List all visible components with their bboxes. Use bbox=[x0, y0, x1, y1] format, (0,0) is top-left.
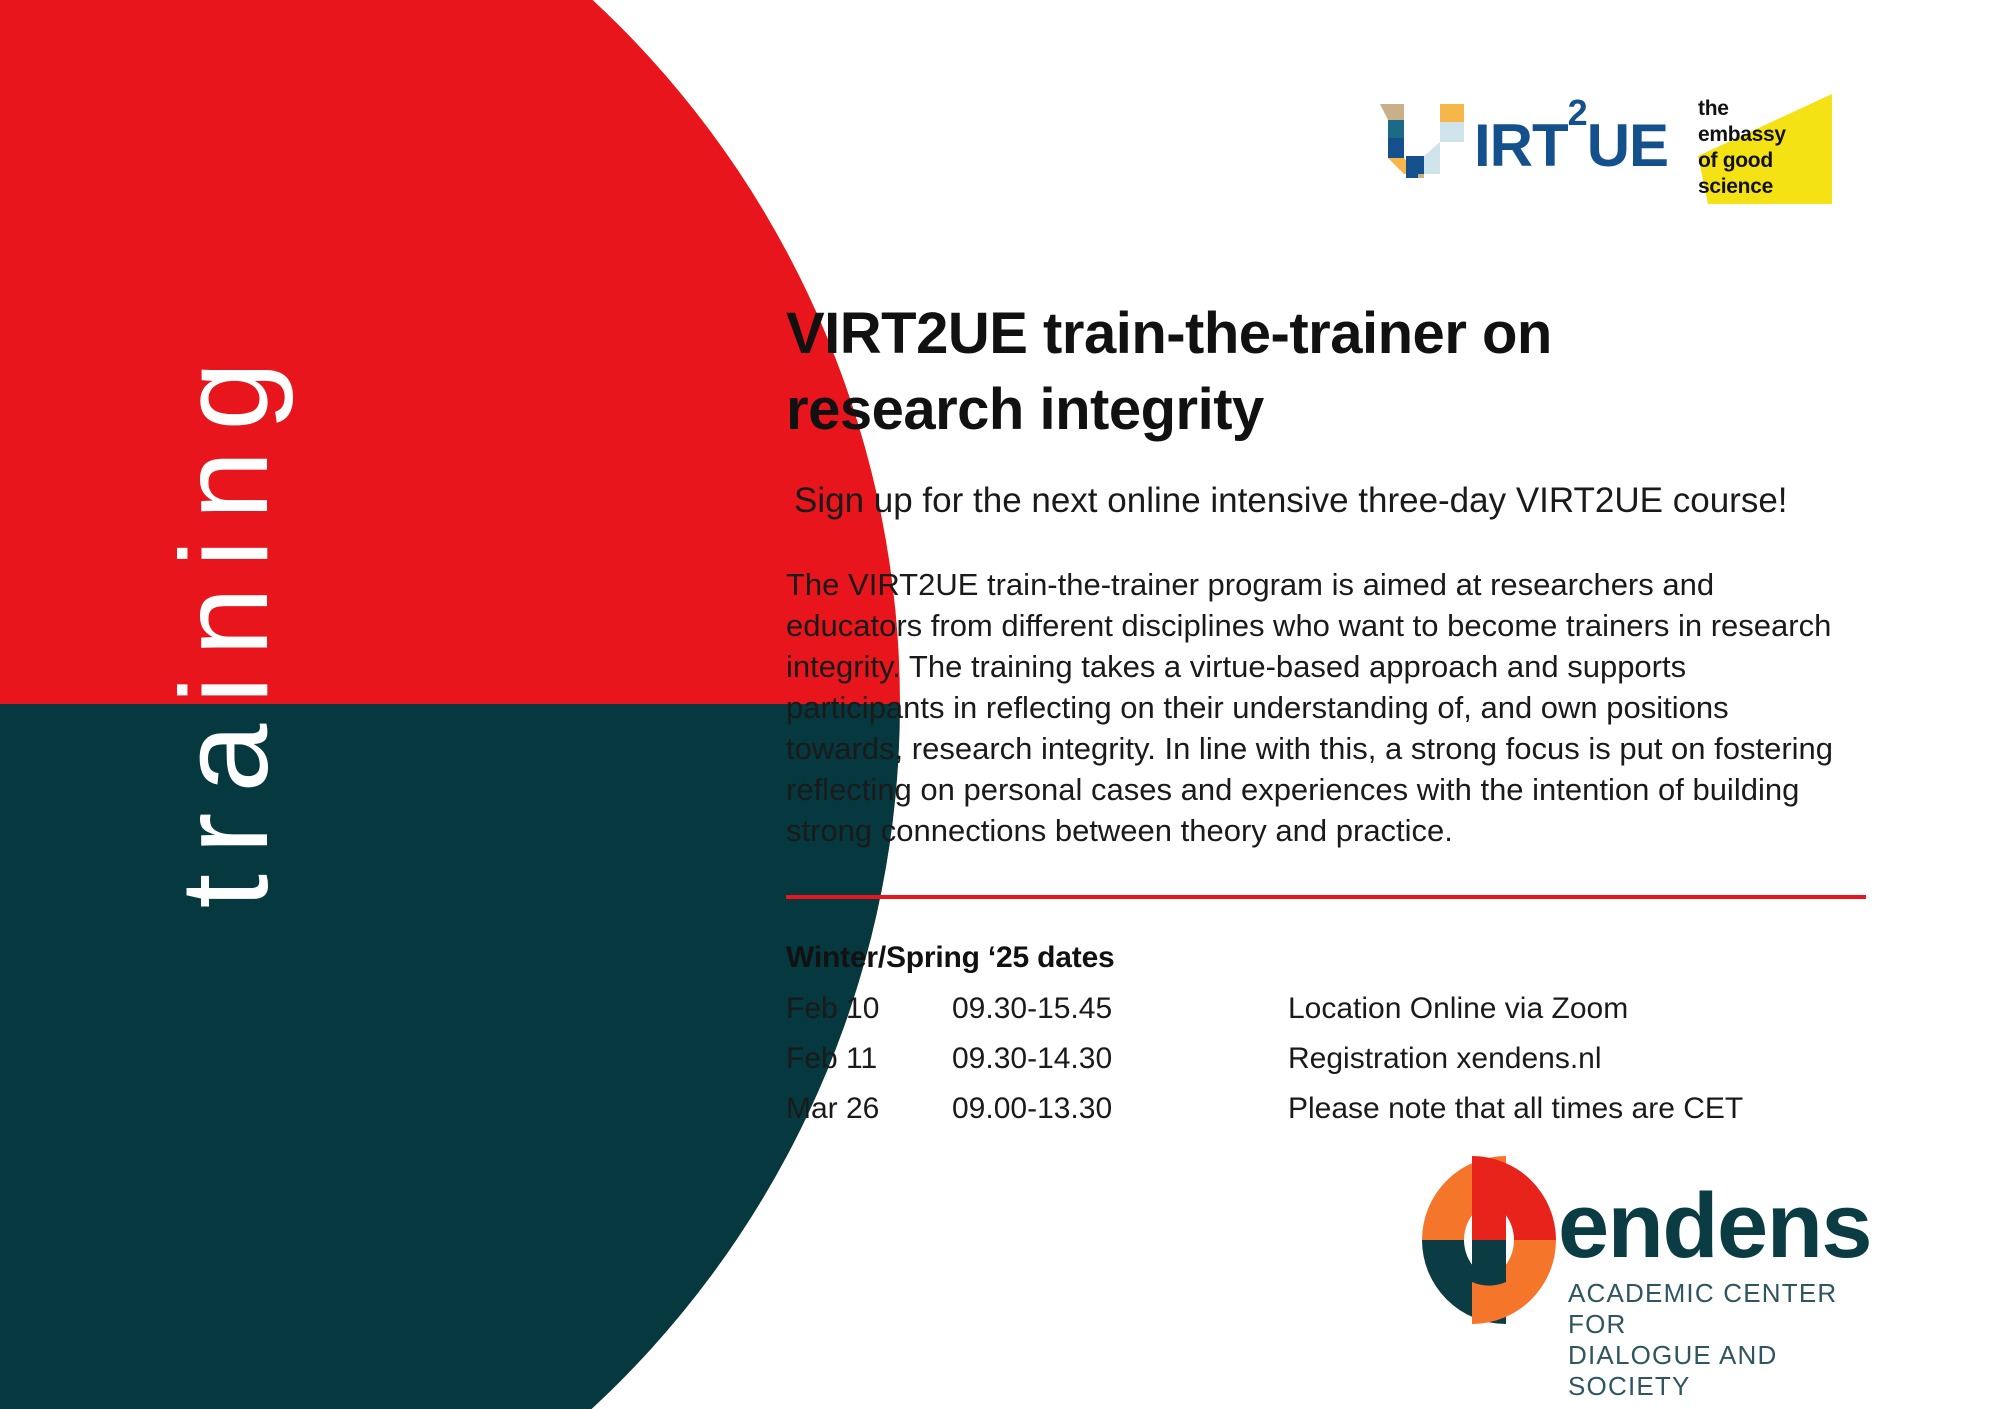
schedule-row-date: Feb 10 bbox=[786, 991, 952, 1027]
page-title: VIRT2UE train-the-trainer on research in… bbox=[786, 296, 1876, 448]
schedule-row-time: 09.00-13.30 bbox=[952, 1091, 1288, 1127]
virt2ue-logo: IRT2UE bbox=[1380, 100, 1668, 178]
embassy-line-2: embassy bbox=[1698, 122, 1786, 148]
virt2ue-v-mark-icon bbox=[1380, 100, 1464, 178]
xendens-wordmark: endens bbox=[1558, 1180, 1871, 1272]
virt2ue-wordmark: IRT2UE bbox=[1474, 103, 1668, 176]
xendens-tagline-line-2: DIALOGUE AND SOCIETY bbox=[1568, 1340, 1880, 1402]
header-logo-row: IRT2UE the embassy of good science bbox=[1380, 92, 1900, 202]
virt2ue-word-after: UE bbox=[1587, 112, 1668, 179]
schedule-grid: Feb 10 09.30-15.45 Location Online via Z… bbox=[786, 991, 1876, 1127]
embassy-line-4: science bbox=[1698, 174, 1786, 200]
embassy-wordmark: the embassy of good science bbox=[1698, 96, 1786, 200]
subtitle: Sign up for the next online intensive th… bbox=[794, 480, 1876, 522]
main-content: VIRT2UE train-the-trainer on research in… bbox=[786, 296, 1876, 1127]
schedule-row-date: Feb 11 bbox=[786, 1041, 952, 1077]
virt2ue-superscript: 2 bbox=[1568, 92, 1587, 133]
xendens-logo: endens ACADEMIC CENTER FOR DIALOGUE AND … bbox=[1410, 1150, 1880, 1330]
schedule-row-info: Registration xendens.nl bbox=[1288, 1041, 1876, 1077]
headline-line-1: VIRT2UE train-the-trainer on bbox=[786, 301, 1552, 366]
xendens-x-mark-icon bbox=[1410, 1150, 1570, 1328]
xendens-tagline-line-1: ACADEMIC CENTER FOR bbox=[1568, 1278, 1880, 1340]
embassy-line-3: of good bbox=[1698, 148, 1786, 174]
schedule-row-info: Location Online via Zoom bbox=[1288, 991, 1876, 1027]
virt2ue-word-before: IRT bbox=[1474, 112, 1568, 179]
body-paragraph: The VIRT2UE train-the-trainer program is… bbox=[786, 564, 1846, 851]
poster-canvas: training IRT2UE bbox=[0, 0, 2000, 1409]
schedule-title: Winter/Spring ‘25 dates bbox=[786, 941, 1876, 975]
schedule-block: Winter/Spring ‘25 dates Feb 10 09.30-15.… bbox=[786, 941, 1876, 1127]
schedule-row-info: Please note that all times are CET bbox=[1288, 1091, 1876, 1127]
schedule-row-time: 09.30-15.45 bbox=[952, 991, 1288, 1027]
schedule-row-time: 09.30-14.30 bbox=[952, 1041, 1288, 1077]
embassy-logo: the embassy of good science bbox=[1692, 92, 1832, 204]
embassy-line-1: the bbox=[1698, 96, 1786, 122]
schedule-row-date: Mar 26 bbox=[786, 1091, 952, 1127]
section-divider bbox=[786, 895, 1866, 899]
xendens-tagline: ACADEMIC CENTER FOR DIALOGUE AND SOCIETY bbox=[1568, 1278, 1880, 1402]
headline-line-2: research integrity bbox=[786, 377, 1264, 442]
